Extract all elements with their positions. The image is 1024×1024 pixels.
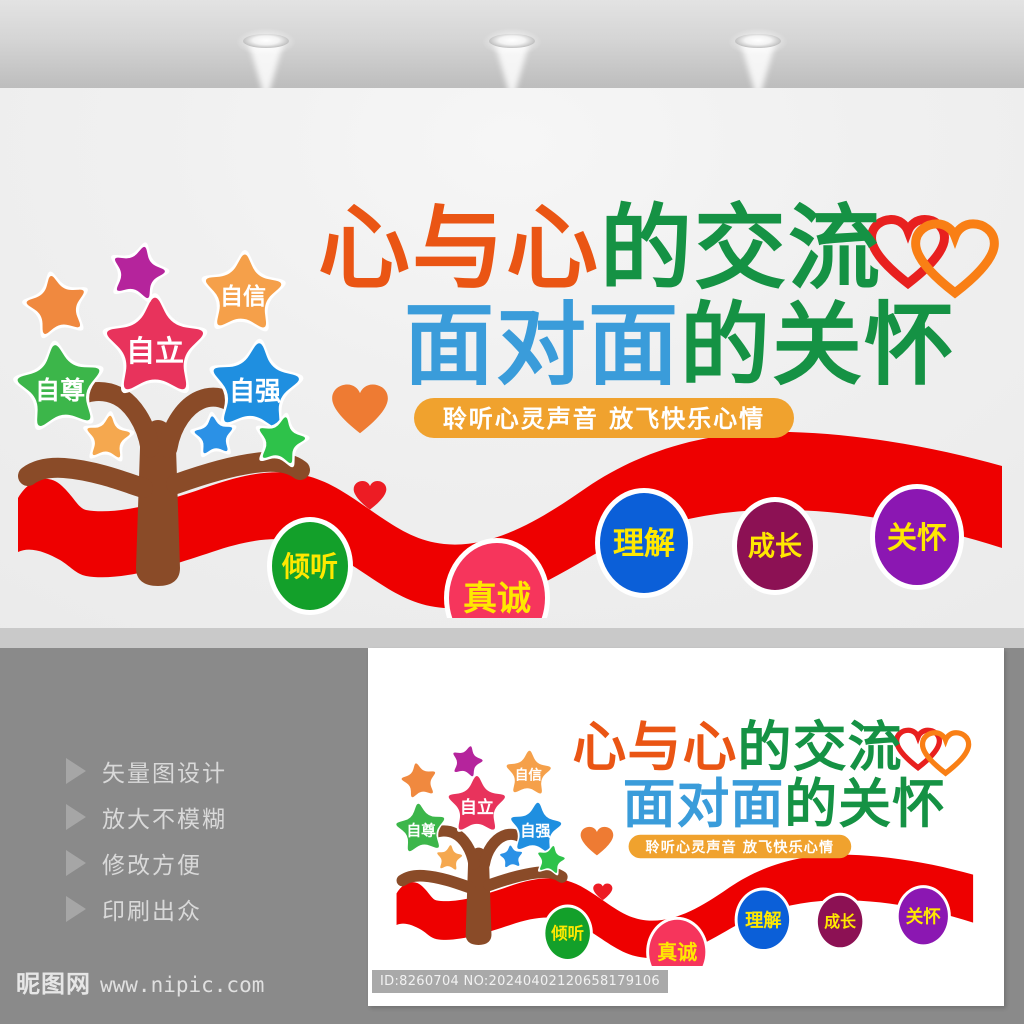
play-triangle-icon [66,758,86,784]
badge-label: 真诚 [463,579,531,618]
play-triangle-icon [66,804,86,830]
title-segment: 的关怀 [680,293,956,398]
star-label: 自信 [220,283,266,310]
circle-badge-理解[interactable]: 理解 [735,888,792,952]
feature-label: 印刷出众 [102,892,202,926]
wall-mockup-scene: 自信自立自尊自强倾听真诚理解成长关怀心与心的交流面对面的关怀聆听心灵声音 放飞快… [0,0,1024,628]
subtitle-banner: 聆听心灵声音 放飞快乐心情 [414,398,794,438]
title-segment: 的交流 [600,195,882,302]
circle-badge-理解[interactable]: 理解 [595,488,693,598]
decorative-star [22,272,88,339]
star-fill [402,763,436,797]
star-自信: 自信 [202,250,286,331]
title-segment: 心与心 [572,716,737,779]
feature-list: 矢量图设计 放大不模糊 修改方便 印刷出众 [66,748,336,932]
star-自尊: 自尊 [394,801,447,853]
title-line-2: 面对面的关怀 [404,293,956,398]
title-segment: 面对面 [404,293,680,398]
spotlight-1 [243,34,289,48]
badge-label: 关怀 [906,907,942,928]
star-自尊: 自尊 [13,341,103,430]
decorative-star [111,242,169,302]
title-segment: 心与心 [318,195,600,302]
star-fill [87,416,130,458]
id-badge: ID:8260704 NO:20240402120658179106 [372,970,668,993]
badge-label: 成长 [748,532,803,563]
badge-label: 真诚 [657,940,697,964]
star-自立: 自立 [103,293,208,393]
wall-artwork-large: 自信自立自尊自强倾听真诚理解成长关怀心与心的交流面对面的关怀聆听心灵声音 放飞快… [0,148,1024,618]
star-label: 自强 [520,822,551,840]
wall-artwork-preview: 自信自立自尊自强倾听真诚理解成长关怀心与心的交流面对面的关怀聆听心灵声音 放飞快… [386,686,986,966]
bottom-info-panel: 矢量图设计 放大不模糊 修改方便 印刷出众 昵图网 www.nipic.com … [0,648,1024,1024]
spotlight-2 [489,34,535,48]
solid-heart-orange-icon [332,384,388,433]
star-label: 自强 [229,376,281,407]
subtitle-banner: 聆听心灵声音 放飞快乐心情 [629,835,852,858]
feature-label: 矢量图设计 [102,754,227,788]
scene-divider [0,628,1024,648]
badge-label: 理解 [745,909,781,931]
subtitle-text: 聆听心灵声音 放飞快乐心情 [443,405,765,433]
spotlight-3 [735,34,781,48]
badge-label: 关怀 [887,521,947,556]
circle-badge-倾听[interactable]: 倾听 [267,517,353,615]
title-line-1: 心与心的交流 [572,716,902,779]
star-label: 自尊 [35,376,85,405]
outline-heart-orange-icon [916,224,995,293]
circle-badge-关怀[interactable]: 关怀 [870,484,964,590]
watermark: 昵图网 www.nipic.com [16,964,264,999]
feature-label: 修改方便 [102,846,202,880]
feature-label: 放大不模糊 [102,800,227,834]
wall-surface: 自信自立自尊自强倾听真诚理解成长关怀心与心的交流面对面的关怀聆听心灵声音 放飞快… [0,88,1024,628]
spotlight-fixture [735,34,781,48]
watermark-url: www.nipic.com [100,973,264,997]
star-label: 自立 [126,334,184,368]
spotlight-fixture [243,34,289,48]
badge-label: 理解 [613,526,675,562]
subtitle-text: 聆听心灵声音 放飞快乐心情 [646,839,835,856]
feature-item: 印刷出众 [66,886,336,932]
title-segment: 面对面 [623,774,785,835]
ceiling [0,0,1024,88]
badge-label: 倾听 [281,550,338,583]
title-line-1: 心与心的交流 [318,195,882,302]
title-segment: 的交流 [738,716,903,779]
play-triangle-icon [66,896,86,922]
badge-label: 成长 [824,912,856,931]
feature-item: 矢量图设计 [66,748,336,794]
circle-badge-关怀[interactable]: 关怀 [896,885,951,947]
star-fill [27,276,84,334]
circle-badge-倾听[interactable]: 倾听 [542,905,592,962]
title-line-2: 面对面的关怀 [623,774,946,835]
decorative-star [399,761,438,800]
circle-badge-成长[interactable]: 成长 [732,497,818,595]
title-segment: 的关怀 [784,774,946,835]
feature-item: 放大不模糊 [66,794,336,840]
star-自信: 自信 [504,748,553,796]
star-label: 自立 [460,797,494,818]
badge-label: 倾听 [550,924,584,943]
star-自立: 自立 [446,773,507,832]
artwork-preview-panel: 自信自立自尊自强倾听真诚理解成长关怀心与心的交流面对面的关怀聆听心灵声音 放飞快… [368,648,1004,1006]
star-fill [437,845,462,870]
star-label: 自信 [515,767,542,784]
solid-heart-orange-icon [581,827,614,856]
feature-item: 修改方便 [66,840,336,886]
watermark-brand: 昵图网 [16,964,91,999]
play-triangle-icon [66,850,86,876]
outline-heart-orange-icon [923,733,969,773]
decorative-star [451,744,485,779]
star-label: 自尊 [407,821,437,839]
circle-badge-成长[interactable]: 成长 [815,893,865,950]
spotlight-fixture [489,34,535,48]
